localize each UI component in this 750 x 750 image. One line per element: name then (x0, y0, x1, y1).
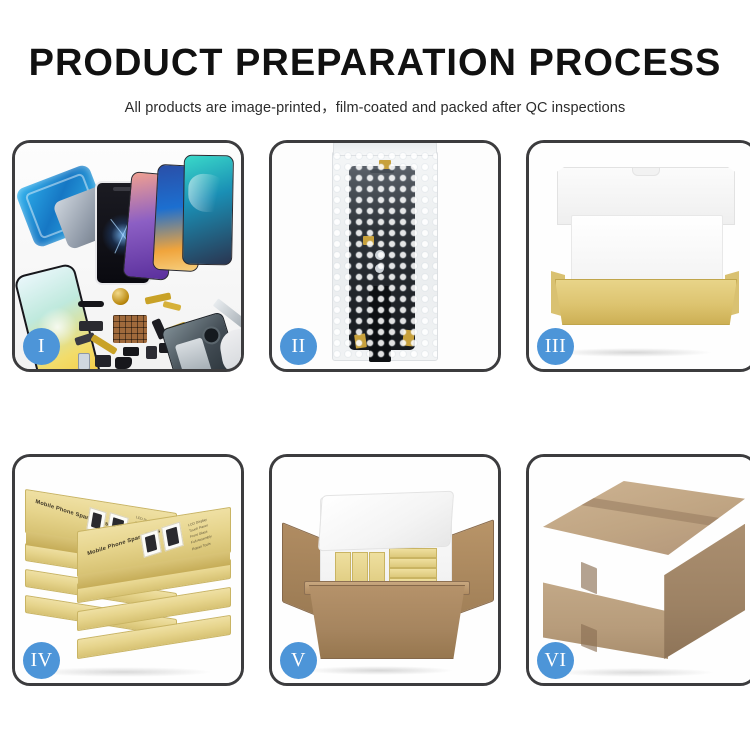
step-badge-1: I (23, 328, 60, 365)
inner-yellow-box-4 (389, 548, 437, 558)
ic-chip-b-icon (146, 346, 157, 359)
box-art-screen-d (161, 522, 184, 552)
process-step-2: II (269, 140, 501, 372)
flex-strip-icon (78, 301, 104, 307)
open-carton-icon (282, 477, 494, 669)
process-step-1: I (12, 140, 244, 372)
bracket-icon (95, 355, 111, 367)
carton-shadow (304, 666, 454, 675)
product-preparation-infographic: PRODUCT PREPARATION PROCESS All products… (0, 0, 750, 750)
bubble-texture-icon (333, 152, 437, 360)
vibration-motor-icon (112, 288, 129, 305)
box-shadow (553, 348, 713, 357)
connector-a-icon (79, 321, 103, 331)
ic-chip-a-icon (123, 347, 139, 356)
page-subtitle: All products are image-printed，film-coat… (0, 96, 750, 117)
step-badge-2: II (280, 328, 317, 365)
box-front-panel-icon (555, 279, 737, 325)
sealed-carton-shadow (555, 668, 715, 677)
phone-screen-teal-icon (182, 155, 234, 266)
sealed-carton-icon (543, 481, 745, 659)
carton-body-icon (304, 585, 470, 659)
stack-shadow (33, 667, 213, 677)
process-step-6: VI (526, 454, 750, 686)
inner-yellow-box-5 (389, 558, 437, 568)
chip-grid-icon (113, 315, 147, 343)
foam-pad-icon (571, 215, 723, 285)
retail-box-stack-icon: Mobile Phone Spare Parts LCD Display Tou… (21, 475, 235, 675)
inner-yellow-box-6 (389, 568, 437, 578)
step-badge-4: IV (23, 642, 60, 679)
flex-cable-b-icon (163, 301, 182, 311)
step-badge-5: V (280, 642, 317, 679)
process-step-3: III (526, 140, 750, 372)
sim-tray-icon (78, 353, 90, 369)
step-badge-3: III (537, 328, 574, 365)
box-features-front: LCD Display Touch Panel Front Glass Full… (188, 516, 213, 552)
bubble-wrap-bag-icon (332, 151, 438, 361)
page-title: PRODUCT PREPARATION PROCESS (0, 44, 750, 82)
speaker-icon (115, 357, 132, 369)
process-step-5: V (269, 454, 501, 686)
open-kraft-box-icon (549, 167, 741, 347)
step-badge-6: VI (537, 642, 574, 679)
foam-lid-icon (318, 491, 454, 552)
carton-seal-upper-icon (581, 562, 597, 594)
process-step-4: Mobile Phone Spare Parts LCD Display Tou… (12, 454, 244, 686)
box-art-screen-c (140, 529, 162, 558)
process-step-grid: I II (12, 140, 738, 685)
header: PRODUCT PREPARATION PROCESS All products… (0, 0, 750, 117)
